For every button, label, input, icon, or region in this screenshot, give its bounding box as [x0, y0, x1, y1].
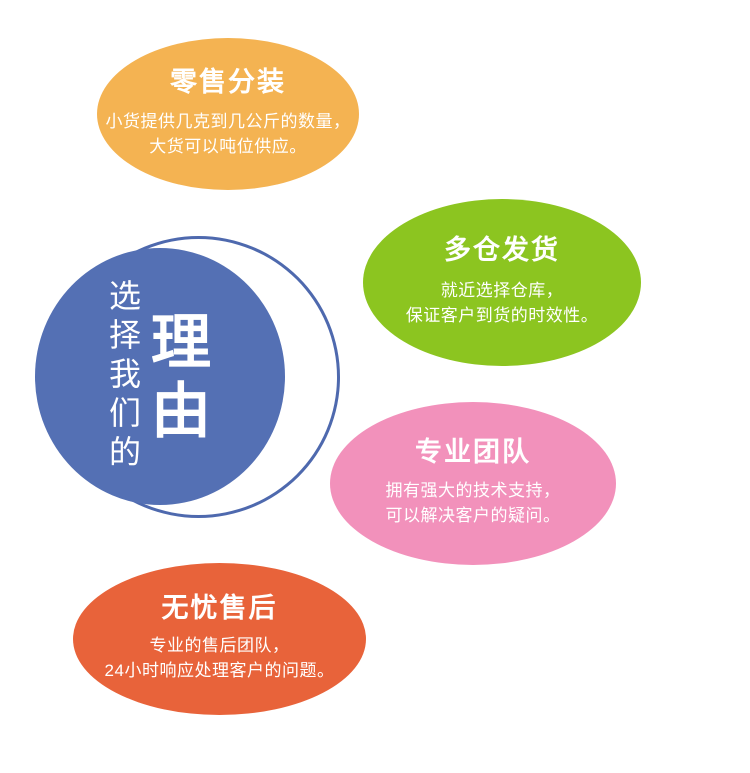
- center-badge[interactable]: 选 择 我 们 的 理 由: [30, 230, 322, 526]
- feature-body-professional-team: 拥有强大的技术支持， 可以解决客户的疑问。: [386, 478, 561, 529]
- center-badge-char: 由: [151, 377, 211, 446]
- infographic-canvas: 零售分装 小货提供几克到几公斤的数量， 大货可以吨位供应。 多仓发货 就近选择仓…: [0, 0, 750, 773]
- feature-body-retail-packaging: 小货提供几克到几公斤的数量， 大货可以吨位供应。: [106, 109, 351, 160]
- feature-body-worry-free-after-sales: 专业的售后团队， 24小时响应处理客户的问题。: [105, 633, 335, 684]
- center-badge-char: 理: [151, 308, 211, 377]
- feature-title-multi-warehouse-shipping: 多仓发货: [444, 236, 560, 266]
- feature-body-line: 专业的售后团队，: [105, 633, 335, 659]
- feature-bubble-retail-packaging[interactable]: 零售分装 小货提供几克到几公斤的数量， 大货可以吨位供应。: [97, 38, 359, 190]
- feature-title-worry-free-after-sales: 无忧售后: [162, 594, 278, 624]
- feature-bubble-multi-warehouse-shipping[interactable]: 多仓发货 就近选择仓库， 保证客户到货的时效性。: [363, 199, 641, 366]
- feature-bubble-professional-team[interactable]: 专业团队 拥有强大的技术支持， 可以解决客户的疑问。: [330, 402, 616, 565]
- center-badge-char: 择: [109, 316, 141, 355]
- feature-body-line: 24小时响应处理客户的问题。: [105, 658, 335, 684]
- feature-bubble-worry-free-after-sales[interactable]: 无忧售后 专业的售后团队， 24小时响应处理客户的问题。: [73, 563, 366, 715]
- center-badge-char: 们: [109, 394, 141, 433]
- center-badge-text: 选 择 我 们 的 理 由: [35, 248, 285, 505]
- center-badge-text-column-small: 选 择 我 们 的: [109, 277, 141, 476]
- feature-body-line: 保证客户到货的时效性。: [406, 303, 599, 329]
- center-badge-char: 我: [109, 355, 141, 394]
- center-badge-char: 选: [109, 277, 141, 316]
- feature-body-line: 就近选择仓库，: [406, 278, 599, 304]
- feature-body-line: 拥有强大的技术支持，: [386, 478, 561, 504]
- feature-title-professional-team: 专业团队: [415, 438, 531, 468]
- center-badge-char: 的: [109, 433, 141, 472]
- feature-title-retail-packaging: 零售分装: [170, 68, 286, 98]
- feature-body-line: 小货提供几克到几公斤的数量，: [106, 109, 351, 135]
- feature-body-multi-warehouse-shipping: 就近选择仓库， 保证客户到货的时效性。: [406, 278, 599, 329]
- center-badge-text-column-large: 理 由: [151, 308, 211, 446]
- feature-body-line: 大货可以吨位供应。: [106, 134, 351, 160]
- feature-body-line: 可以解决客户的疑问。: [386, 503, 561, 529]
